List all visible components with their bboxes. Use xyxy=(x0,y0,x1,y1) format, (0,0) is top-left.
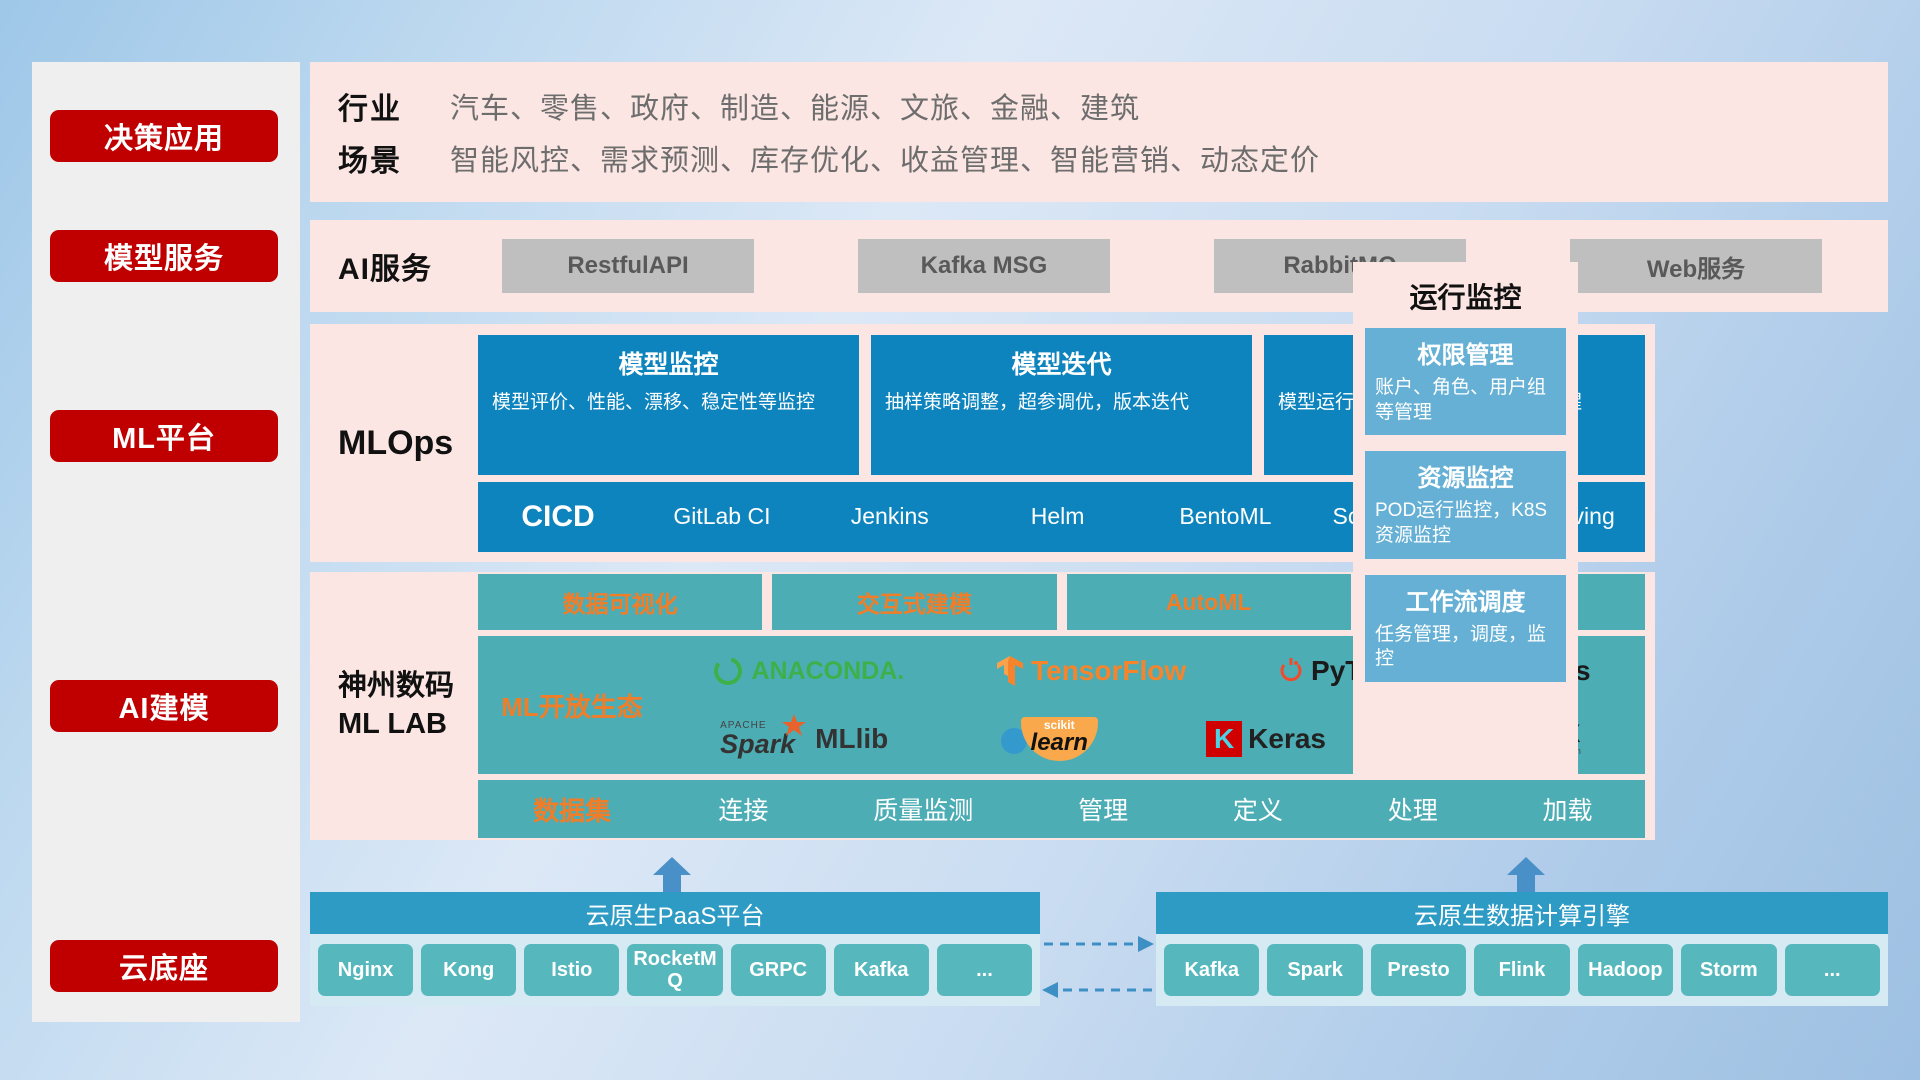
ai-service-panel: AI服务 RestfulAPI Kafka MSG RabbitMQ Web服务 xyxy=(310,220,1888,312)
sidebar-item-cloud-base[interactable]: 云底座 xyxy=(50,940,278,992)
cloud-data-engine-chip-group: Kafka Spark Presto Flink Hadoop Storm ..… xyxy=(1156,934,1888,1006)
runtime-monitoring-panel: 运行监控 权限管理 账户、角色、用户组等管理 资源监控 POD运行监控，K8S资… xyxy=(1353,262,1578,778)
card-desc: 抽样策略调整，超参调优，版本迭代 xyxy=(885,390,1238,415)
keras-icon: K xyxy=(1206,721,1242,757)
mlops-card-model-monitoring[interactable]: 模型监控 模型评价、性能、漂移、稳定性等监控 xyxy=(478,335,859,475)
cloud-data-engine-title: 云原生数据计算引擎 xyxy=(1156,892,1888,934)
learn-logo-text: learn xyxy=(1031,731,1088,755)
tensorflow-icon xyxy=(995,654,1025,688)
cloud-paas-chip-group: Nginx Kong Istio RocketMQ GRPC Kafka ... xyxy=(310,934,1040,1006)
data-chip-more[interactable]: ... xyxy=(1785,944,1880,996)
industry-row: 行业 汽车、零售、政府、制造、能源、文旅、金融、建筑 xyxy=(338,80,1888,132)
data-chip-presto[interactable]: Presto xyxy=(1371,944,1466,996)
ai-service-web[interactable]: Web服务 xyxy=(1570,239,1822,293)
cloud-chip-more[interactable]: ... xyxy=(937,944,1032,996)
dataset-item-group: 连接 质量监测 管理 定义 处理 加载 xyxy=(666,791,1645,827)
card-title: 权限管理 xyxy=(1375,335,1556,370)
sidebar-item-ai-modeling[interactable]: AI建模 xyxy=(50,680,278,732)
anaconda-logo-text: ANACONDA. xyxy=(751,657,904,686)
mllib-logo-text: MLlib xyxy=(815,723,888,755)
cloud-chip-grpc[interactable]: GRPC xyxy=(731,944,826,996)
cloud-chip-kafka[interactable]: Kafka xyxy=(834,944,929,996)
ml-lab-label-line1: 神州数码 xyxy=(338,668,478,706)
cicd-item-helm[interactable]: Helm xyxy=(974,503,1142,529)
dataset-label: 数据集 xyxy=(478,791,666,828)
card-desc: POD运行监控，K8S资源监控 xyxy=(1375,499,1556,548)
card-title: 资源监控 xyxy=(1375,458,1556,493)
lab-tool-interactive-modeling[interactable]: 交互式建模 xyxy=(772,574,1056,630)
tensorflow-logo-text: TensorFlow xyxy=(1031,655,1186,687)
industry-label: 行业 xyxy=(338,84,450,128)
scenario-row: 场景 智能风控、需求预测、库存优化、收益管理、智能营销、动态定价 xyxy=(338,132,1888,184)
card-desc: 账户、角色、用户组等管理 xyxy=(1375,376,1556,425)
scikit-learn-logo[interactable]: scikit learn xyxy=(997,717,1098,761)
card-title: 工作流调度 xyxy=(1375,582,1556,617)
layer-label-sidebar: 决策应用 模型服务 ML平台 AI建模 云底座 xyxy=(32,62,300,1022)
cloud-chip-rocketmq[interactable]: RocketMQ xyxy=(627,944,722,996)
keras-logo-text: Keras xyxy=(1248,723,1326,755)
ai-service-box-group: RestfulAPI Kafka MSG RabbitMQ Web服务 xyxy=(450,239,1888,293)
bidirectional-link-arrows-icon xyxy=(1040,930,1156,1004)
mlops-label: MLOps xyxy=(338,424,478,463)
ml-lab-label: 神州数码 ML LAB xyxy=(338,668,478,743)
dataset-item-process[interactable]: 处理 xyxy=(1388,791,1438,827)
cicd-item-bentoml[interactable]: BentoML xyxy=(1141,503,1309,529)
dataset-item-connect[interactable]: 连接 xyxy=(718,791,768,827)
ai-service-kafka-msg[interactable]: Kafka MSG xyxy=(858,239,1110,293)
sidebar-item-label: ML平台 xyxy=(112,415,216,457)
monitor-card-resource[interactable]: 资源监控 POD运行监控，K8S资源监控 xyxy=(1365,451,1566,558)
lab-tool-automl[interactable]: AutoML xyxy=(1067,574,1351,630)
cloud-chip-istio[interactable]: Istio xyxy=(524,944,619,996)
ml-ecosystem-label: ML开放生态 xyxy=(478,687,666,724)
data-chip-kafka[interactable]: Kafka xyxy=(1164,944,1259,996)
lab-tool-data-visualization[interactable]: 数据可视化 xyxy=(478,574,762,630)
up-arrow-data-engine-icon xyxy=(1505,855,1547,895)
tensorflow-logo[interactable]: TensorFlow xyxy=(995,654,1186,688)
dataset-bar: 数据集 连接 质量监测 管理 定义 处理 加载 xyxy=(478,780,1645,838)
dataset-item-load[interactable]: 加载 xyxy=(1543,791,1593,827)
cloud-chip-kong[interactable]: Kong xyxy=(421,944,516,996)
up-arrow-paas-icon xyxy=(651,855,693,895)
sidebar-item-label: 云底座 xyxy=(119,945,209,987)
monitor-card-workflow[interactable]: 工作流调度 任务管理，调度，监控 xyxy=(1365,575,1566,682)
ml-lab-label-line2: ML LAB xyxy=(338,706,478,744)
anaconda-logo[interactable]: ANACONDA. xyxy=(711,654,904,688)
card-title: 模型监控 xyxy=(492,345,845,381)
pytorch-icon xyxy=(1277,655,1305,687)
scenario-values: 智能风控、需求预测、库存优化、收益管理、智能营销、动态定价 xyxy=(450,137,1320,179)
data-chip-flink[interactable]: Flink xyxy=(1474,944,1569,996)
card-title: 模型迭代 xyxy=(885,345,1238,381)
cloud-native-data-engine-block: 云原生数据计算引擎 Kafka Spark Presto Flink Hadoo… xyxy=(1156,892,1888,1006)
sidebar-item-label: AI建模 xyxy=(118,685,209,727)
data-chip-hadoop[interactable]: Hadoop xyxy=(1578,944,1673,996)
mlops-card-model-iteration[interactable]: 模型迭代 抽样策略调整，超参调优，版本迭代 xyxy=(871,335,1252,475)
dataset-item-define[interactable]: 定义 xyxy=(1233,791,1283,827)
sidebar-item-label: 决策应用 xyxy=(104,115,224,157)
card-desc: 模型评价、性能、漂移、稳定性等监控 xyxy=(492,390,845,415)
keras-logo[interactable]: K Keras xyxy=(1206,721,1326,757)
cloud-native-paas-block: 云原生PaaS平台 Nginx Kong Istio RocketMQ GRPC… xyxy=(310,892,1040,1006)
scenario-label: 场景 xyxy=(338,136,450,180)
dataset-item-manage[interactable]: 管理 xyxy=(1078,791,1128,827)
spark-star-icon xyxy=(781,713,807,739)
monitor-card-permission[interactable]: 权限管理 账户、角色、用户组等管理 xyxy=(1365,328,1566,435)
sidebar-item-model-service[interactable]: 模型服务 xyxy=(50,230,278,282)
ai-service-restfulapi[interactable]: RestfulAPI xyxy=(502,239,754,293)
card-desc: 任务管理，调度，监控 xyxy=(1375,623,1556,672)
data-chip-storm[interactable]: Storm xyxy=(1681,944,1776,996)
spark-mllib-logo[interactable]: APACHE Spark MLlib xyxy=(720,721,888,758)
cicd-item-gitlab-ci[interactable]: GitLab CI xyxy=(638,503,806,529)
decision-apps-panel: 行业 汽车、零售、政府、制造、能源、文旅、金融、建筑 场景 智能风控、需求预测、… xyxy=(310,62,1888,202)
cicd-title: CICD xyxy=(478,500,638,534)
dataset-item-quality[interactable]: 质量监测 xyxy=(873,791,973,827)
cicd-item-jenkins[interactable]: Jenkins xyxy=(806,503,974,529)
data-chip-spark[interactable]: Spark xyxy=(1267,944,1362,996)
sidebar-item-decision-apps[interactable]: 决策应用 xyxy=(50,110,278,162)
sidebar-item-ml-platform[interactable]: ML平台 xyxy=(50,410,278,462)
ai-service-label: AI服务 xyxy=(338,244,450,288)
runtime-monitoring-title: 运行监控 xyxy=(1409,276,1521,316)
cloud-chip-nginx[interactable]: Nginx xyxy=(318,944,413,996)
anaconda-icon xyxy=(711,654,745,688)
sidebar-item-label: 模型服务 xyxy=(104,235,224,277)
cloud-paas-title: 云原生PaaS平台 xyxy=(310,892,1040,934)
industry-values: 汽车、零售、政府、制造、能源、文旅、金融、建筑 xyxy=(450,85,1140,127)
